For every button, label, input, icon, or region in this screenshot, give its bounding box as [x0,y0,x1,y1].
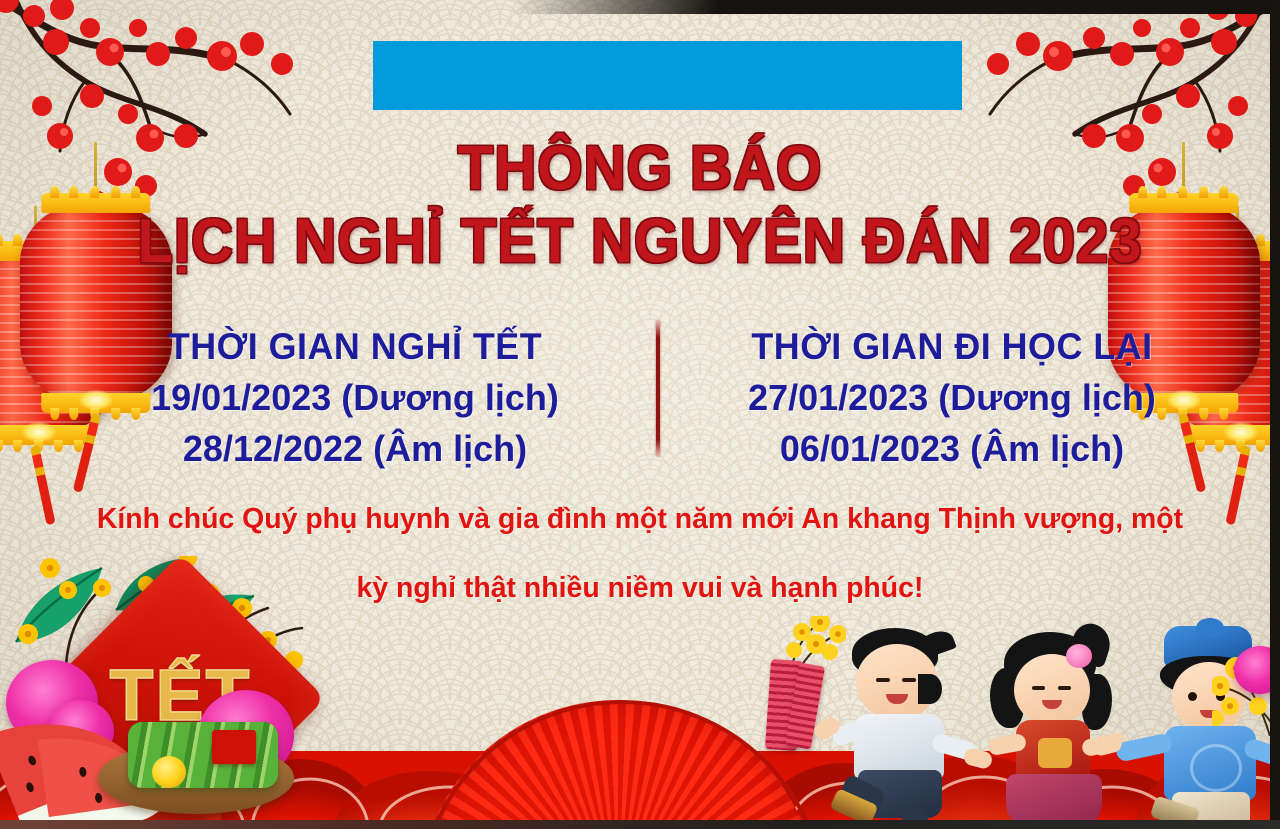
banh-chung-icon [128,722,278,788]
title-line-1: THÔNG BÁO [458,134,823,203]
holiday-start-solar-date: 19/01/2023 (Dương lịch) [60,377,650,419]
greeting-line-2: kỳ nghỉ thật nhiều niềm vui và hạnh phúc… [52,574,1228,603]
redaction-box [373,41,962,110]
children-playing-icon-girl [982,632,1132,829]
photo-edge-bottom [0,820,1280,829]
greeting-message: Kính chúc Quý phụ huynh và gia đình một … [52,505,1228,603]
column-divider [656,321,660,456]
return-to-school-lunar-date: 06/01/2023 (Âm lịch) [672,428,1232,470]
photo-edge-right [1270,0,1280,829]
pink-flower-icon-left-small [48,700,114,762]
holiday-start-heading: THỜI GIAN NGHỈ TẾT [69,326,641,368]
photo-edge-top [0,0,1280,14]
return-to-school-heading: THỜI GIAN ĐI HỌC LẠI [680,326,1223,368]
greeting-line-1: Kính chúc Quý phụ huynh và gia đình một … [97,503,1183,535]
yellow-apricot-flower-icon-tray [152,756,186,788]
holiday-start-lunar-date: 28/12/2022 (Âm lịch) [60,428,650,470]
return-to-school-solar-date: 27/01/2023 (Dương lịch) [672,377,1232,419]
page-title: THÔNG BÁO LỊCH NGHỈ TẾT NGUYÊN ĐÁN 2023 [38,134,1241,277]
holiday-start-column: THỜI GIAN NGHỈ TẾT 19/01/2023 (Dương lịc… [60,326,650,470]
title-line-2: LỊCH NGHỈ TẾT NGUYÊN ĐÁN 2023 [38,207,1241,276]
return-to-school-column: THỜI GIAN ĐI HỌC LẠI 27/01/2023 (Dương l… [672,326,1232,470]
tet-announcement-poster: TẾT [0,0,1280,829]
children-playing-icon-boy-white [828,628,978,828]
